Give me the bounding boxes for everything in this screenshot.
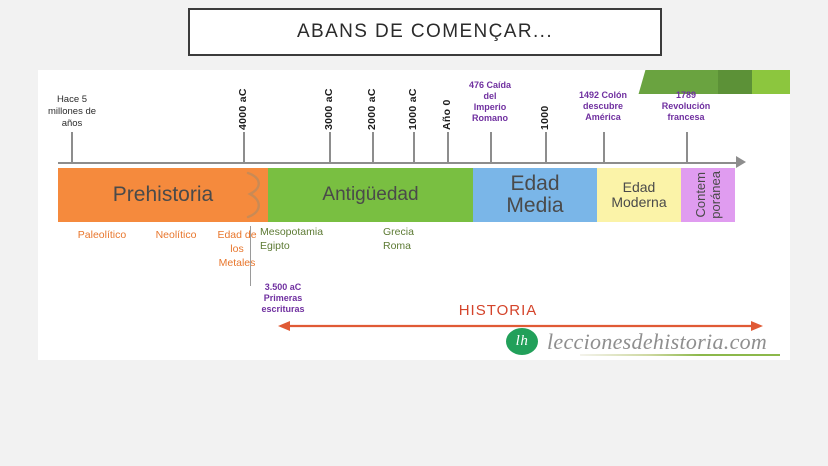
page-title: ABANS DE COMENÇAR... bbox=[297, 21, 553, 43]
sub-label-grecia-roma: Grecia Roma bbox=[383, 225, 463, 253]
era-label-edad-media: Edad Media bbox=[506, 173, 563, 217]
era-band-edad-media[interactable]: Edad Media bbox=[473, 168, 597, 222]
axis-label-4000-ac: 4000 aC bbox=[237, 80, 249, 130]
axis-tick-4 bbox=[413, 132, 415, 162]
axis-tick-2 bbox=[329, 132, 331, 162]
timeline-axis bbox=[58, 162, 740, 164]
timeline-axis-arrow-icon bbox=[736, 156, 746, 168]
axis-label-1492-colon-america: 1492 Colón descubre América bbox=[558, 90, 648, 123]
axis-tick-0 bbox=[71, 132, 73, 162]
axis-label-476-caida-imperio-romano: 476 Caída del Imperio Romano bbox=[450, 80, 530, 124]
axis-tick-8 bbox=[603, 132, 605, 162]
axis-label-1000-ac: 1000 aC bbox=[407, 80, 419, 130]
sub-label-edad-de-los-metales: Edad de los Metales bbox=[206, 228, 268, 270]
axis-tick-9 bbox=[686, 132, 688, 162]
sub-label-divider bbox=[250, 226, 251, 286]
timeline-slide-card: Hace 5 millones de años 4000 aC 3000 aC … bbox=[38, 70, 790, 360]
sub-label-paleolitico: Paleolítico bbox=[62, 228, 142, 242]
axis-label-3000-ac: 3000 aC bbox=[323, 80, 335, 130]
axis-label-2000-ac: 2000 aC bbox=[366, 80, 378, 130]
axis-tick-1 bbox=[243, 132, 245, 162]
axis-label-1000: 1000 bbox=[539, 96, 551, 130]
logo-mark-icon: lh bbox=[506, 328, 538, 355]
axis-tick-3 bbox=[372, 132, 374, 162]
squiggle-icon bbox=[242, 170, 266, 220]
annotation-primeras-escrituras: 3.500 aC Primeras escrituras bbox=[228, 282, 338, 315]
era-label-edad-moderna: Edad Moderna bbox=[611, 180, 666, 209]
era-label-prehistoria: Prehistoria bbox=[113, 184, 213, 206]
era-band-group: Prehistoria Antigüedad Edad Media Edad M… bbox=[58, 168, 740, 222]
era-label-contemporanea-part2: poránea bbox=[709, 171, 722, 219]
axis-tick-7 bbox=[545, 132, 547, 162]
axis-label-1789-revolucion-francesa: 1789 Revolución francesa bbox=[644, 90, 728, 123]
era-band-antiguedad[interactable]: Antigüedad bbox=[268, 168, 473, 222]
axis-tick-5 bbox=[447, 132, 449, 162]
era-label-contemporanea-part1: Contem bbox=[694, 172, 707, 218]
sub-label-mesopotamia-egipto: Mesopotamia Egipto bbox=[260, 225, 362, 253]
era-label-antiguedad: Antigüedad bbox=[322, 185, 418, 205]
historia-label: HISTORIA bbox=[418, 302, 578, 319]
era-band-prehistoria[interactable]: Prehistoria bbox=[58, 168, 268, 222]
axis-tick-6 bbox=[490, 132, 492, 162]
site-logo[interactable]: lh leccionesdehistoria.com bbox=[506, 328, 767, 355]
logo-text: leccionesdehistoria.com bbox=[547, 329, 767, 355]
era-band-edad-moderna[interactable]: Edad Moderna bbox=[597, 168, 681, 222]
axis-label-hace-5-millones: Hace 5 millones de años bbox=[38, 94, 114, 130]
slide-title-box: ABANS DE COMENÇAR... bbox=[188, 8, 662, 56]
sub-label-neolitico: Neolítico bbox=[142, 228, 210, 242]
era-band-contemporanea[interactable]: Contem poránea bbox=[681, 168, 735, 222]
